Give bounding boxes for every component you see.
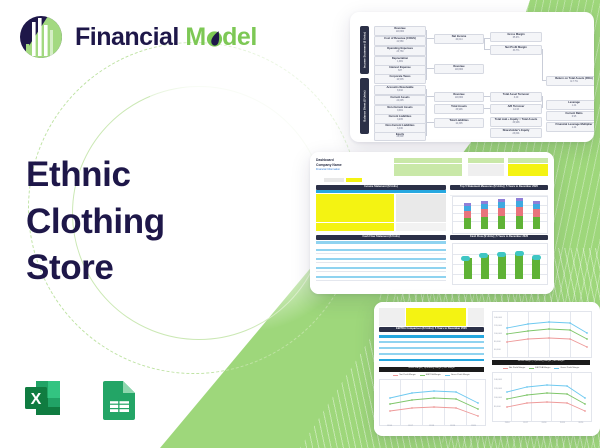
bar-group <box>498 199 505 229</box>
diagram-connector <box>426 38 434 39</box>
dashboard-input-block <box>468 158 504 163</box>
x-tick: 2019 <box>450 425 455 427</box>
dashboard-table-cells <box>396 194 446 222</box>
diagram-node: Revenue118,800 <box>434 92 484 102</box>
x-tick: 2016 <box>387 425 392 427</box>
x-tick: 2020 <box>578 422 583 424</box>
brand-name-m: M <box>185 23 205 51</box>
dashboard-input-block <box>394 164 462 176</box>
diagram-connector <box>426 89 427 136</box>
diagram-node: Current Assets24,095 <box>374 95 426 105</box>
dashboard-cell-block <box>468 164 504 176</box>
chart-legend: Net Profit Margin EBITDA Margin Gross Pr… <box>379 373 484 377</box>
bar <box>481 255 489 279</box>
page-title-line-2: Clothing <box>26 199 256 246</box>
data-label-pill <box>479 253 488 258</box>
dashboard-table-yellow-cells <box>316 223 394 231</box>
diagram-node: Cost of Revenue (COGS)41,580 <box>374 36 426 46</box>
y-tick: 60,000 <box>494 349 501 351</box>
bar <box>515 253 523 279</box>
microsoft-excel-icon[interactable]: X <box>22 374 73 425</box>
financial-model-circle-chart-logo <box>18 14 64 60</box>
diagram-node: Accounts Receivable8,910 <box>374 85 426 95</box>
diagram-node: Current Ratio6.95 <box>546 111 594 121</box>
y-tick: 100,000 <box>494 397 502 399</box>
diagram-connector <box>426 96 434 97</box>
financial-ratio-diagram-card[interactable]: Income Statement ($ Units) Balance Sheet… <box>350 12 594 142</box>
data-label-pill <box>532 255 541 260</box>
diagram-connector <box>426 122 434 123</box>
dashboard-section-header: Cash Flow Statement ($ Units) <box>316 235 446 240</box>
cash-flow-bar <box>452 243 548 285</box>
diagram-node: Leverage1.44 <box>546 100 594 110</box>
dashboard-section-header: Top 5 Statement Measures ($ Units) | 5 Y… <box>450 185 548 190</box>
legend-label: Gross Profit Margin <box>451 374 470 376</box>
diagram-node: Shareholder's Equity23,601 <box>490 128 542 138</box>
diagram-connector <box>542 80 546 81</box>
svg-text:X: X <box>31 391 42 408</box>
dashboard-input-yellow <box>508 164 548 176</box>
data-label-pill <box>515 251 524 256</box>
bar <box>532 257 540 279</box>
dashboard-table-header-row <box>316 190 446 193</box>
top-measures-stacked-bar <box>452 196 548 234</box>
legend-label: Net Profit Margin <box>509 367 525 369</box>
dashboard-input-yellow <box>346 178 362 182</box>
diagram-node: Financial Leverage Multiplier1.44 <box>546 122 594 132</box>
y-tick: 140,000 <box>494 317 502 319</box>
chart-legend: Net Profit Margin EBITDA Margin Gross Pr… <box>492 366 590 370</box>
y-tick: 120,000 <box>494 325 502 327</box>
dashboard-input-block <box>394 158 462 163</box>
bar <box>464 258 472 279</box>
charts-input-yellow <box>406 308 466 326</box>
diagram-canvas: Income Statement ($ Units) Balance Sheet… <box>350 12 594 142</box>
file-format-icons: X <box>22 374 145 425</box>
page-title-line-1: Ethnic <box>26 152 256 199</box>
charts-table <box>379 333 484 364</box>
bar <box>498 254 506 279</box>
data-label-pill <box>461 256 470 261</box>
diagram-node: Equity23,601 <box>374 132 426 141</box>
brand-logo[interactable]: Financial Mdel <box>18 14 257 60</box>
brand-name-financial: Financial <box>75 23 179 51</box>
legend-label: EBITDA Margin <box>535 367 550 369</box>
diagram-node: Net Income40,014 <box>434 34 484 44</box>
diagram-node: Total Assets33,996 <box>434 104 484 114</box>
x-tick: 2018 <box>542 422 547 424</box>
diagram-node: A/R Turnover13.33 <box>490 104 542 114</box>
poster-canvas: Financial Mdel Ethnic Clothing Store X <box>0 0 600 448</box>
profitability-margins-line-2 <box>379 379 486 426</box>
dashboard-cell-block <box>324 178 344 182</box>
x-tick: 2018 <box>429 425 434 427</box>
x-tick: 2019 <box>560 422 565 424</box>
diagram-side-label-income-statement: Income Statement ($ Units) <box>360 26 369 74</box>
page-title-line-3: Store <box>26 245 256 292</box>
diagram-connector <box>484 49 490 50</box>
y-tick: 140,000 <box>494 379 502 381</box>
diagram-connector <box>426 30 427 80</box>
charts-table-cells <box>468 308 484 326</box>
dashboard-canvas: Dashboard Company Name Financial Informa… <box>310 152 554 294</box>
dashboard-table <box>316 244 446 284</box>
diagram-node: Total Liabilities10,395 <box>434 118 484 128</box>
dashboard-section-header: Cash Flow ($ Units) | 5 Years to Decembe… <box>450 235 548 240</box>
diagram-connector <box>542 49 543 80</box>
diagram-node: Total Liab + Equity = Total Assets33,996 <box>490 117 542 127</box>
diagram-node: Corporate Taxes10,535 <box>374 74 426 84</box>
diagram-connector <box>484 96 490 97</box>
charts-section-header: Gross Margin | Operating Margin | Net Ma… <box>492 360 590 365</box>
diagram-node: Gross Margin65.0% <box>490 32 542 42</box>
diagram-node: Return on Total Assets (ROA)117.7% <box>546 76 594 86</box>
diagram-node: Net Profit Margin33.7% <box>490 45 542 55</box>
charts-section-header: EBITDA Comparison ($ Units) | 5 Years to… <box>379 327 484 332</box>
bar-group <box>533 201 540 229</box>
diagram-node: Revenue118,800 <box>374 26 426 36</box>
y-tick: 120,000 <box>494 388 502 390</box>
charts-canvas: EBITDA Comparison ($ Units) | 5 Years to… <box>374 302 600 436</box>
y-tick: 100,000 <box>494 333 502 335</box>
page-title: Ethnic Clothing Store <box>26 152 256 292</box>
dashboard-table-yellow-cells <box>316 194 394 222</box>
legend-label: Net Profit Margin <box>399 374 415 376</box>
legend-label: EBITDA Margin <box>426 374 441 376</box>
legend-label: Gross Profit Margin <box>560 367 579 369</box>
bar-group <box>516 198 523 229</box>
x-tick: 2020 <box>471 425 476 427</box>
charts-table-label-block <box>379 308 405 326</box>
y-tick: 80,000 <box>494 406 501 408</box>
dashboard-card[interactable]: Dashboard Company Name Financial Informa… <box>310 152 554 294</box>
diagram-connector <box>484 38 490 39</box>
diagram-connector <box>484 38 485 49</box>
diagram-node: Total Asset Turnover3.49 <box>490 92 542 102</box>
x-tick: 2016 <box>505 422 510 424</box>
x-tick: 2017 <box>408 425 413 427</box>
diagram-connector <box>426 68 434 69</box>
bar-group <box>464 203 471 229</box>
diagram-node: Operating Expenses23,760 <box>374 46 426 56</box>
profitability-margins-line-3: 140,000 120,000 100,000 80,000 <box>492 372 592 422</box>
x-axis-labels: 2016 2017 2018 2019 2020 <box>379 425 484 427</box>
diagram-node: Revenue118,800 <box>434 64 484 74</box>
charts-section-header: Gross Margin | Operating Margin | Net Ma… <box>379 367 484 372</box>
brand-name: Financial Mdel <box>75 24 257 50</box>
y-tick: 80,000 <box>494 341 501 343</box>
diagram-connector <box>542 96 543 108</box>
bar-group <box>481 201 488 229</box>
diagram-connector <box>484 108 490 109</box>
brand-name-del: del <box>222 23 257 51</box>
google-sheets-icon[interactable] <box>94 374 145 425</box>
x-tick: 2017 <box>523 422 528 424</box>
diagram-side-label-balance-sheet: Balance Sheet ($ Units) <box>360 78 369 134</box>
data-label-pill <box>497 252 506 257</box>
x-axis-labels: 2016 2017 2018 2019 2020 <box>498 422 590 424</box>
charts-card[interactable]: EBITDA Comparison ($ Units) | 5 Years to… <box>374 302 600 436</box>
dashboard-subtitle: Financial Information <box>316 168 376 172</box>
brand-leaf-icon <box>206 24 223 50</box>
dashboard-input-block <box>508 158 548 163</box>
profitability-margins-line-1: 140,000 120,000 100,000 80,000 60,000 <box>492 311 592 358</box>
dashboard-table-cells <box>396 223 446 231</box>
